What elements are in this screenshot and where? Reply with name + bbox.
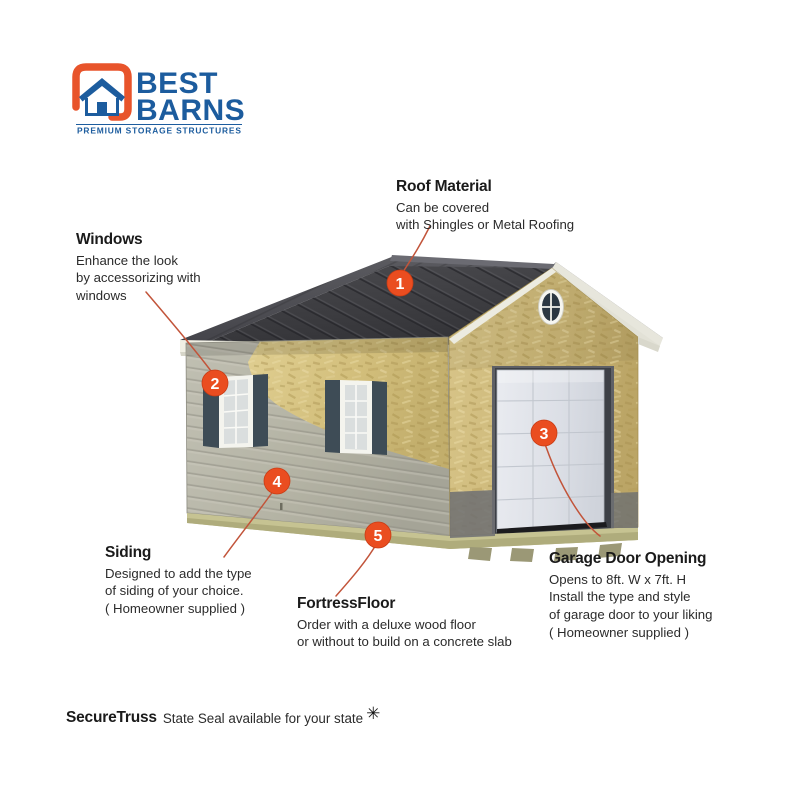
window-right — [325, 380, 387, 455]
marker-5: 5 — [365, 522, 391, 548]
callout-line: ( Homeowner supplied ) — [105, 600, 252, 618]
callout-title-siding: Siding — [105, 544, 252, 563]
svg-text:3: 3 — [540, 426, 549, 443]
svg-text:5: 5 — [374, 528, 383, 545]
garage-door-outline — [497, 370, 604, 532]
oval-window — [539, 290, 564, 325]
roof-right-fascia — [550, 262, 663, 348]
side-wall — [180, 330, 460, 545]
logo-text-barns: BARNS — [136, 94, 245, 127]
roof-back-slope — [180, 256, 552, 347]
garage-door-gap — [497, 522, 607, 534]
footer-note-text: State Seal available for your state — [163, 711, 363, 726]
callout-title-windows: Windows — [76, 231, 201, 250]
foundation-shadow-left — [450, 490, 495, 538]
callout-windows: Windows Enhance the look by accessorizin… — [76, 231, 201, 305]
foundation-shadow-right — [611, 492, 638, 528]
gable-rake-left — [449, 268, 556, 344]
callout-line: with Shingles or Metal Roofing — [396, 216, 574, 234]
callout-line: Enhance the look — [76, 252, 201, 270]
svg-text:1: 1 — [396, 276, 405, 293]
best-barns-logo: BEST BARNS PREMIUM STORAGE STRUCTURES — [66, 57, 248, 135]
callout-garage-door-opening: Garage Door Opening Opens to 8ft. W x 7f… — [549, 550, 712, 641]
marker-2: 2 — [202, 370, 228, 396]
roof-front-fascia — [180, 340, 461, 353]
product-feature-diagram: BEST BARNS PREMIUM STORAGE STRUCTURES — [0, 0, 800, 800]
number-markers: 1 2 3 4 5 — [202, 270, 557, 548]
callout-fortressfloor: FortressFloor Order with a deluxe wood f… — [297, 595, 512, 651]
footer-securetruss-note: SecureTruss State Seal available for you… — [66, 709, 380, 727]
window-mullions-2 — [345, 385, 367, 449]
roof-right-edge — [552, 268, 659, 344]
callout-line: ( Homeowner supplied ) — [549, 624, 712, 642]
gable-wall-outline — [449, 268, 638, 536]
logo-house-icon — [79, 78, 125, 116]
svg-text:2: 2 — [211, 376, 220, 393]
door-jamb-shadow — [492, 366, 614, 536]
callout-line: Designed to add the type — [105, 565, 252, 583]
callout-line: Order with a deluxe wood floor — [297, 616, 512, 634]
callout-siding: Siding Designed to add the type of sidin… — [105, 544, 252, 618]
shutter-right-2 — [372, 381, 387, 455]
leader-line-3 — [543, 438, 600, 536]
door-reveal — [495, 368, 611, 534]
callout-line: or without to build on a concrete slab — [297, 633, 512, 651]
roof-main-ribs — [180, 266, 562, 352]
callout-title-garage-door-opening: Garage Door Opening — [549, 550, 712, 569]
roof-ridge-cap — [390, 255, 554, 269]
gable-wall — [445, 260, 645, 540]
window-glass-2 — [345, 385, 367, 450]
callout-title-fortressfloor: FortressFloor — [297, 595, 512, 614]
asterisk-icon: ✳ — [366, 705, 380, 722]
gable-eave-return — [638, 337, 660, 352]
marker-4: 4 — [264, 468, 290, 494]
window-left — [203, 374, 268, 448]
roof-front-fascia-shadow — [180, 352, 461, 357]
treated-floor-band-shadow — [187, 518, 638, 549]
window-glass-1 — [224, 379, 248, 444]
roof-main-plane — [180, 266, 562, 352]
gable-rake-right — [552, 268, 660, 350]
side-wall-outline — [186, 337, 450, 536]
shutter-left-1 — [203, 377, 219, 448]
roof-back-ribs — [180, 256, 552, 347]
footer-brand-securetruss: SecureTruss — [66, 709, 157, 727]
callout-line: Opens to 8ft. W x 7ft. H — [549, 571, 712, 589]
window-mullions-1 — [224, 380, 248, 444]
callout-line: of garage door to your liking — [549, 606, 712, 624]
callout-line: by accessorizing with — [76, 269, 201, 287]
callout-roof-material: Roof Material Can be covered with Shingl… — [396, 178, 574, 234]
garage-door-panel-lines — [497, 370, 604, 530]
callout-line: Install the type and style — [549, 588, 712, 606]
window-frame-2 — [340, 380, 372, 454]
callout-line: of siding of your choice. — [105, 582, 252, 600]
logo-tagline: PREMIUM STORAGE STRUCTURES — [77, 126, 242, 136]
marker-1: 1 — [387, 270, 413, 296]
leader-line-5 — [336, 543, 377, 596]
garage-door — [497, 370, 604, 532]
leader-lines — [146, 226, 600, 596]
shutter-right-1 — [253, 374, 268, 447]
shutter-left-2 — [325, 380, 340, 453]
treated-floor-band — [187, 513, 638, 549]
wall-vent-mark — [280, 503, 283, 510]
marker-3: 3 — [531, 420, 557, 446]
callout-line: windows — [76, 287, 201, 305]
callout-title-roof-material: Roof Material — [396, 178, 574, 197]
roof-ridge-right — [552, 262, 663, 340]
svg-text:4: 4 — [273, 474, 282, 491]
callout-line: Can be covered — [396, 199, 574, 217]
window-frame-1 — [219, 375, 253, 448]
